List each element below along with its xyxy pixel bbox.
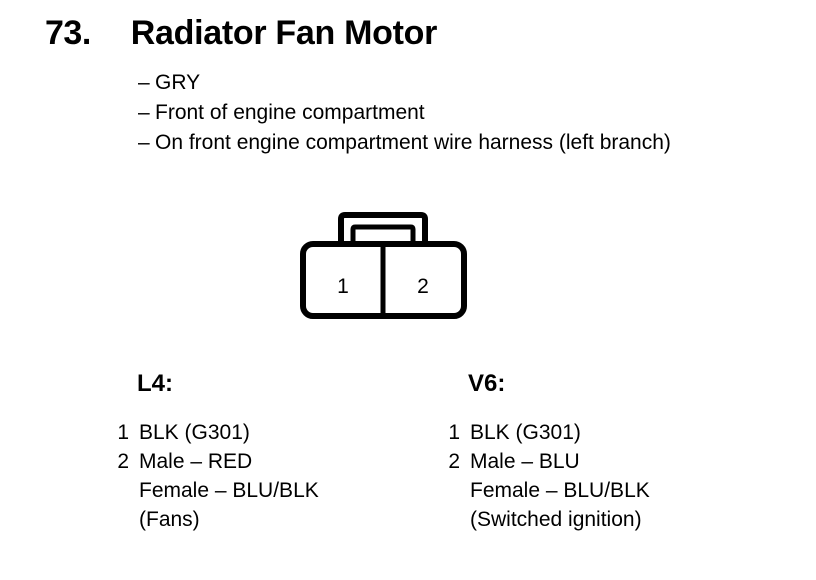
pin-row: 2 Male – RED Female – BLU/BLK (Fans) — [105, 447, 435, 534]
pin-number: 1 — [436, 418, 460, 447]
pin-description-line: Female – BLU/BLK — [470, 476, 650, 505]
list-item: – On front engine compartment wire harne… — [138, 128, 798, 158]
list-item: – Front of engine compartment — [138, 98, 798, 128]
dash-icon: – — [138, 68, 155, 98]
pin-description-line: Female – BLU/BLK — [139, 476, 319, 505]
pin-assignment-list: 1 BLK (G301) 2 Male – RED Female – BLU/B… — [105, 418, 435, 534]
dash-icon: – — [138, 128, 155, 158]
pin-description: Male – RED Female – BLU/BLK (Fans) — [139, 447, 319, 534]
pin-number: 2 — [105, 447, 129, 476]
variant-heading: L4: — [137, 372, 435, 396]
cavity-label-1: 1 — [337, 275, 349, 298]
page-header: 73. Radiator Fan Motor — [45, 16, 437, 50]
pin-description-line: Male – BLU — [470, 447, 650, 476]
pin-description-line: (Switched ignition) — [470, 505, 650, 534]
page-title: Radiator Fan Motor — [131, 16, 437, 50]
connector-diagram: 1 2 — [296, 208, 476, 324]
pin-number: 2 — [436, 447, 460, 476]
list-item-label: GRY — [155, 68, 200, 98]
pin-row: 2 Male – BLU Female – BLU/BLK (Switched … — [436, 447, 766, 534]
dash-icon: – — [138, 98, 155, 128]
pin-description-line: (Fans) — [139, 505, 319, 534]
list-item-label: On front engine compartment wire harness… — [155, 128, 671, 158]
pin-description-line: BLK (G301) — [470, 421, 581, 444]
pin-description: BLK (G301) — [139, 418, 250, 447]
pin-description-line: Male – RED — [139, 447, 319, 476]
connector-reference-page: 73. Radiator Fan Motor – GRY – Front of … — [0, 0, 816, 580]
variant-column-v6: V6: 1 BLK (G301) 2 Male – BLU Female – B… — [436, 372, 766, 534]
pin-row: 1 BLK (G301) — [436, 418, 766, 447]
item-number: 73. — [45, 16, 91, 50]
variant-heading: V6: — [468, 372, 766, 396]
pin-description: BLK (G301) — [470, 418, 581, 447]
pin-assignment-list: 1 BLK (G301) 2 Male – BLU Female – BLU/B… — [436, 418, 766, 534]
list-item-label: Front of engine compartment — [155, 98, 425, 128]
detail-list: – GRY – Front of engine compartment – On… — [138, 68, 798, 158]
connector-svg: 1 2 — [296, 208, 476, 324]
pin-description: Male – BLU Female – BLU/BLK (Switched ig… — [470, 447, 650, 534]
pin-description-line: BLK (G301) — [139, 421, 250, 444]
list-item: – GRY — [138, 68, 798, 98]
cavity-label-2: 2 — [417, 275, 429, 298]
pin-number: 1 — [105, 418, 129, 447]
variant-column-l4: L4: 1 BLK (G301) 2 Male – RED Female – B… — [105, 372, 435, 534]
pin-row: 1 BLK (G301) — [105, 418, 435, 447]
